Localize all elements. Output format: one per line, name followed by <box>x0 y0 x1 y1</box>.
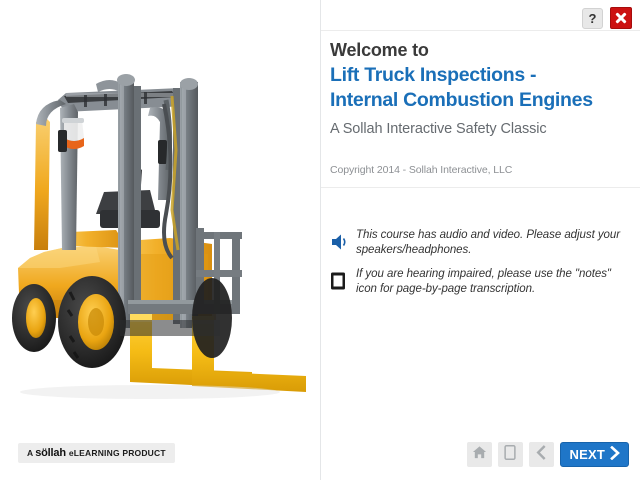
sollah-product-logo: A söllah eLEARNING PRODUCT <box>18 443 175 463</box>
close-button[interactable] <box>610 7 632 29</box>
help-button[interactable]: ? <box>582 8 603 29</box>
home-button[interactable] <box>467 442 492 467</box>
logo-suffix: eLEARNING PRODUCT <box>69 448 166 458</box>
notes-button[interactable] <box>498 442 523 467</box>
title-block: Welcome to Lift Truck Inspections - Inte… <box>330 38 630 140</box>
notice-audio: This course has audio and video. Please … <box>330 228 630 258</box>
home-icon <box>472 445 487 463</box>
copyright-text: Copyright 2014 - Sollah Interactive, LLC <box>330 164 512 176</box>
logo-prefix: A <box>27 448 33 458</box>
back-button[interactable] <box>529 442 554 467</box>
notices-list: This course has audio and video. Please … <box>330 228 630 306</box>
speaker-icon <box>330 228 356 255</box>
notes-icon <box>504 445 516 463</box>
chevron-right-icon <box>609 446 621 463</box>
window-controls: ? <box>582 7 632 29</box>
notice-transcription-text: If you are hearing impaired, please use … <box>356 267 630 297</box>
next-button-label: NEXT <box>570 448 605 461</box>
course-title-line-2: Internal Combustion Engines <box>330 88 630 113</box>
notes-clipboard-icon <box>330 267 356 294</box>
course-subtitle: A Sollah Interactive Safety Classic <box>330 118 630 140</box>
welcome-label: Welcome to <box>330 38 630 63</box>
visual-panel <box>0 0 320 480</box>
next-button[interactable]: NEXT <box>560 442 629 467</box>
navigation-bar: NEXT <box>467 441 629 467</box>
logo-brand: söllah <box>35 447 66 459</box>
header-divider <box>321 30 640 31</box>
section-divider <box>321 187 640 188</box>
course-title-line-1: Lift Truck Inspections - <box>330 63 630 88</box>
chevron-left-icon <box>534 445 548 463</box>
course-player-frame: ? Welcome to Lift Truck Inspections - In… <box>0 0 640 480</box>
notice-transcription: If you are hearing impaired, please use … <box>330 267 630 297</box>
forklift-illustration <box>0 0 320 440</box>
notice-audio-text: This course has audio and video. Please … <box>356 228 630 258</box>
content-panel: ? Welcome to Lift Truck Inspections - In… <box>321 0 640 480</box>
